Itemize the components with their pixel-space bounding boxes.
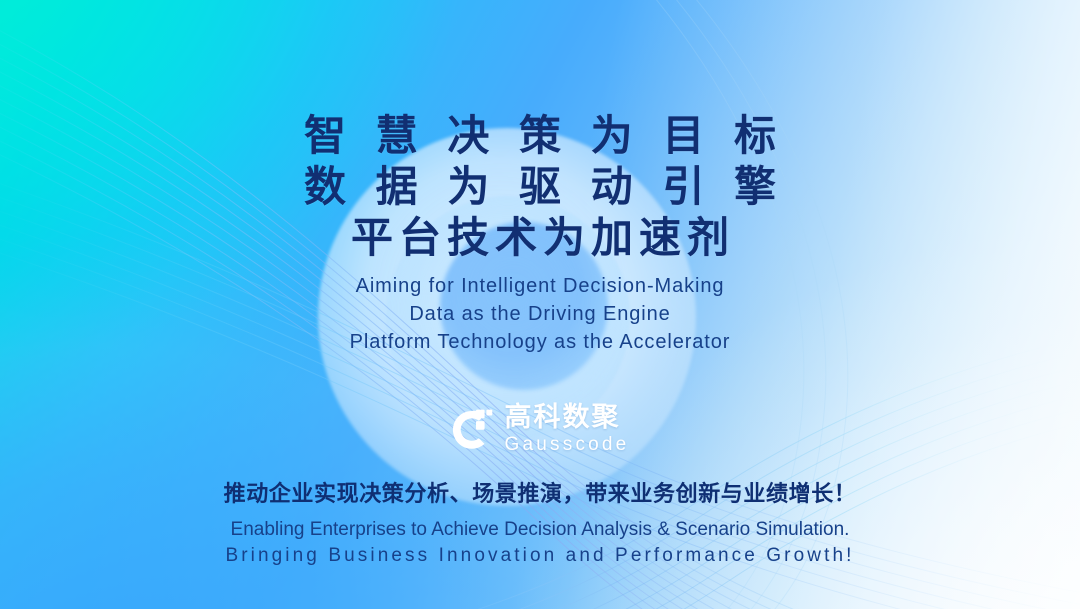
headline-block: 智 慧 决 策 为 目 标 数 据 为 驱 动 引 擎 平台技术为加速剂 xyxy=(295,110,785,263)
tagline-chinese: 推动企业实现决策分析、场景推演，带来业务创新与业绩增长！ xyxy=(224,476,857,508)
logo-name-en: Gausscode xyxy=(505,435,630,454)
banner-content: 智 慧 决 策 为 目 标 数 据 为 驱 动 引 擎 平台技术为加速剂 Aim… xyxy=(0,0,1080,609)
headline-line-2: 数 据 为 驱 动 引 擎 xyxy=(295,161,785,212)
subtitle-line-1: Aiming for Intelligent Decision-Making xyxy=(350,272,731,300)
logo-name-cn: 高科数聚 xyxy=(505,404,630,431)
subtitle-line-2: Data as the Driving Engine xyxy=(350,300,731,328)
headline-line-3: 平台技术为加速剂 xyxy=(295,212,785,263)
subtitle-block: Aiming for Intelligent Decision-Making D… xyxy=(350,272,731,356)
headline-line-1: 智 慧 决 策 为 目 标 xyxy=(295,110,785,161)
logo-wordmark: 高科数聚 Gausscode xyxy=(505,404,630,454)
company-logo: 高科数聚 Gausscode xyxy=(451,404,630,454)
subtitle-line-3: Platform Technology as the Accelerator xyxy=(350,328,731,356)
gausscode-logo-mark-icon xyxy=(451,408,494,451)
tagline-english-line-2: Bringing Business Innovation and Perform… xyxy=(225,543,854,569)
promotional-banner: 智 慧 决 策 为 目 标 数 据 为 驱 动 引 擎 平台技术为加速剂 Aim… xyxy=(0,0,1080,609)
tagline-english-line-1: Enabling Enterprises to Achieve Decision… xyxy=(225,517,854,543)
tagline-english-block: Enabling Enterprises to Achieve Decision… xyxy=(225,517,854,569)
